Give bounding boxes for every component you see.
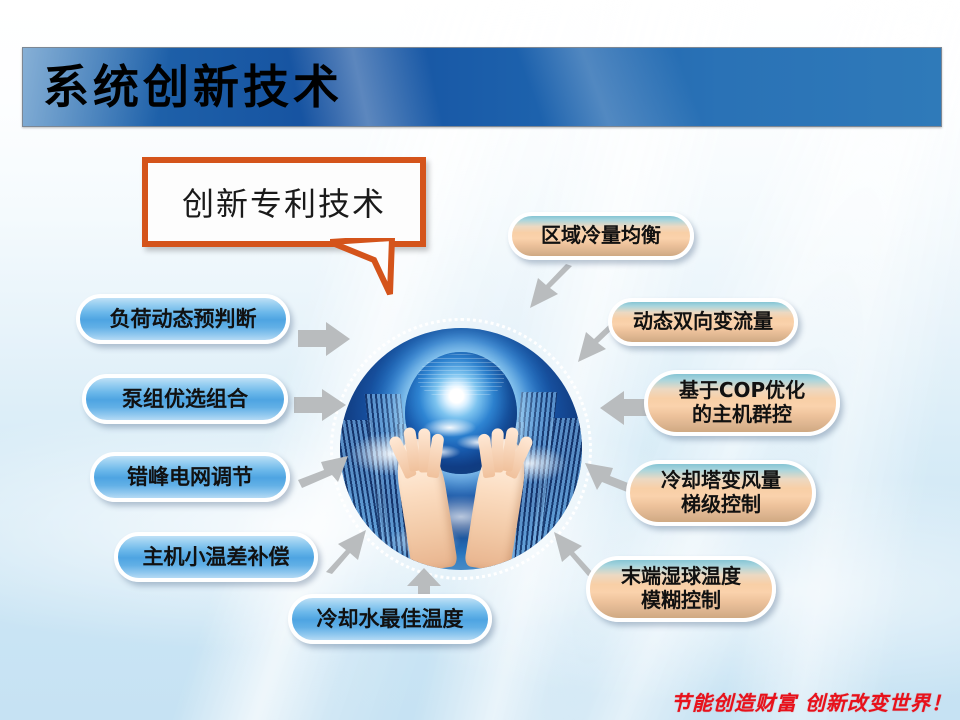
node-right-4-label-line2: 梯级控制 (661, 493, 781, 517)
node-left-5-label: 冷却水最佳温度 (317, 607, 464, 632)
node-right-2[interactable]: 动态双向变流量 (608, 298, 798, 346)
node-right-3[interactable]: 基于COP优化 的主机群控 (644, 370, 840, 436)
node-right-1[interactable]: 区域冷量均衡 (508, 212, 694, 260)
title-banner: 系统创新技术 (22, 47, 942, 127)
node-right-1-label: 区域冷量均衡 (541, 224, 661, 248)
slide-canvas: 系统创新技术 创新专利技术 (0, 0, 960, 720)
node-left-4-label: 主机小温差补偿 (143, 545, 290, 570)
node-right-3-label-line1: 基于COP优化 (679, 379, 805, 403)
node-right-5-label-line2: 模糊控制 (621, 589, 741, 613)
footer-slogan: 节能创造财富 创新改变世界！ (0, 687, 952, 716)
node-right-5[interactable]: 末端湿球温度 模糊控制 (586, 556, 776, 622)
node-left-1-label: 负荷动态预判断 (110, 307, 257, 332)
center-hub (330, 318, 592, 580)
node-right-3-label-line2: 的主机群控 (679, 403, 805, 427)
node-left-2[interactable]: 泵组优选组合 (82, 374, 288, 424)
node-right-4-label-line1: 冷却塔变风量 (661, 469, 781, 493)
page-title: 系统创新技术 (43, 52, 343, 122)
node-left-1[interactable]: 负荷动态预判断 (76, 294, 290, 344)
node-left-3[interactable]: 错峰电网调节 (90, 452, 290, 502)
node-right-4[interactable]: 冷却塔变风量 梯级控制 (626, 460, 816, 526)
node-right-5-label-line1: 末端湿球温度 (621, 565, 741, 589)
node-left-5[interactable]: 冷却水最佳温度 (288, 594, 492, 644)
callout-box: 创新专利技术 (142, 157, 426, 247)
callout-label: 创新专利技术 (148, 163, 420, 241)
node-right-2-label: 动态双向变流量 (633, 310, 773, 334)
node-left-2-label: 泵组优选组合 (122, 387, 248, 412)
node-left-4[interactable]: 主机小温差补偿 (114, 532, 318, 582)
hub-dotted-ring (330, 318, 592, 580)
node-left-3-label: 错峰电网调节 (127, 465, 253, 490)
